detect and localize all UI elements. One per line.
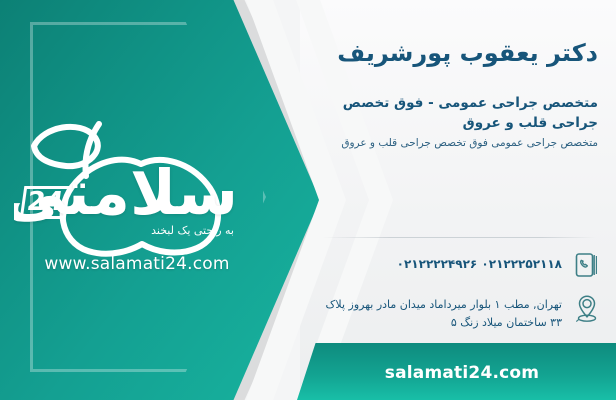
logo-badge-24: 24 — [20, 186, 71, 219]
business-card: سلامتی 24 به راحتی یک لبخند www.salamati… — [0, 0, 616, 400]
footer-site-url: salamati24.com — [379, 363, 539, 383]
logo-wordmark-group: سلامتی 24 به راحتی یک لبخند — [14, 162, 244, 246]
phone-numbers: ۰۲۱۲۲۲۵۲۱۱۸ ۰۲۱۲۲۲۲۴۹۲۶ — [314, 248, 562, 274]
address-row: تهران, مطب ۱ بلوار میرداماد میدان مادر ب… — [314, 292, 602, 331]
content-divider — [322, 237, 596, 238]
doctor-name: دکتر یعقوب پورشریف — [318, 38, 598, 68]
phone-book-icon — [572, 248, 602, 282]
doctor-specialty-secondary: متخصص جراحی عمومی فوق تخصص جراحی قلب و ع… — [330, 135, 598, 151]
footer-bar: salamati24.com — [296, 343, 616, 400]
map-pin-icon — [572, 292, 602, 326]
logo-website-url: www.salamati24.com — [22, 254, 252, 274]
address-text: تهران, مطب ۱ بلوار میرداماد میدان مادر ب… — [314, 292, 562, 331]
card-content: دکتر یعقوب پورشریف متخصص جراحی عمومی - ف… — [300, 0, 616, 400]
logo-tagline: به راحتی یک لبخند — [151, 224, 234, 237]
salamati24-logo: سلامتی 24 به راحتی یک لبخند www.salamati… — [14, 110, 264, 280]
phone-row: ۰۲۱۲۲۲۵۲۱۱۸ ۰۲۱۲۲۲۲۴۹۲۶ — [314, 248, 602, 282]
doctor-specialty: متخصص جراحی عمومی - فوق تخصص جراحی قلب و… — [330, 93, 598, 134]
